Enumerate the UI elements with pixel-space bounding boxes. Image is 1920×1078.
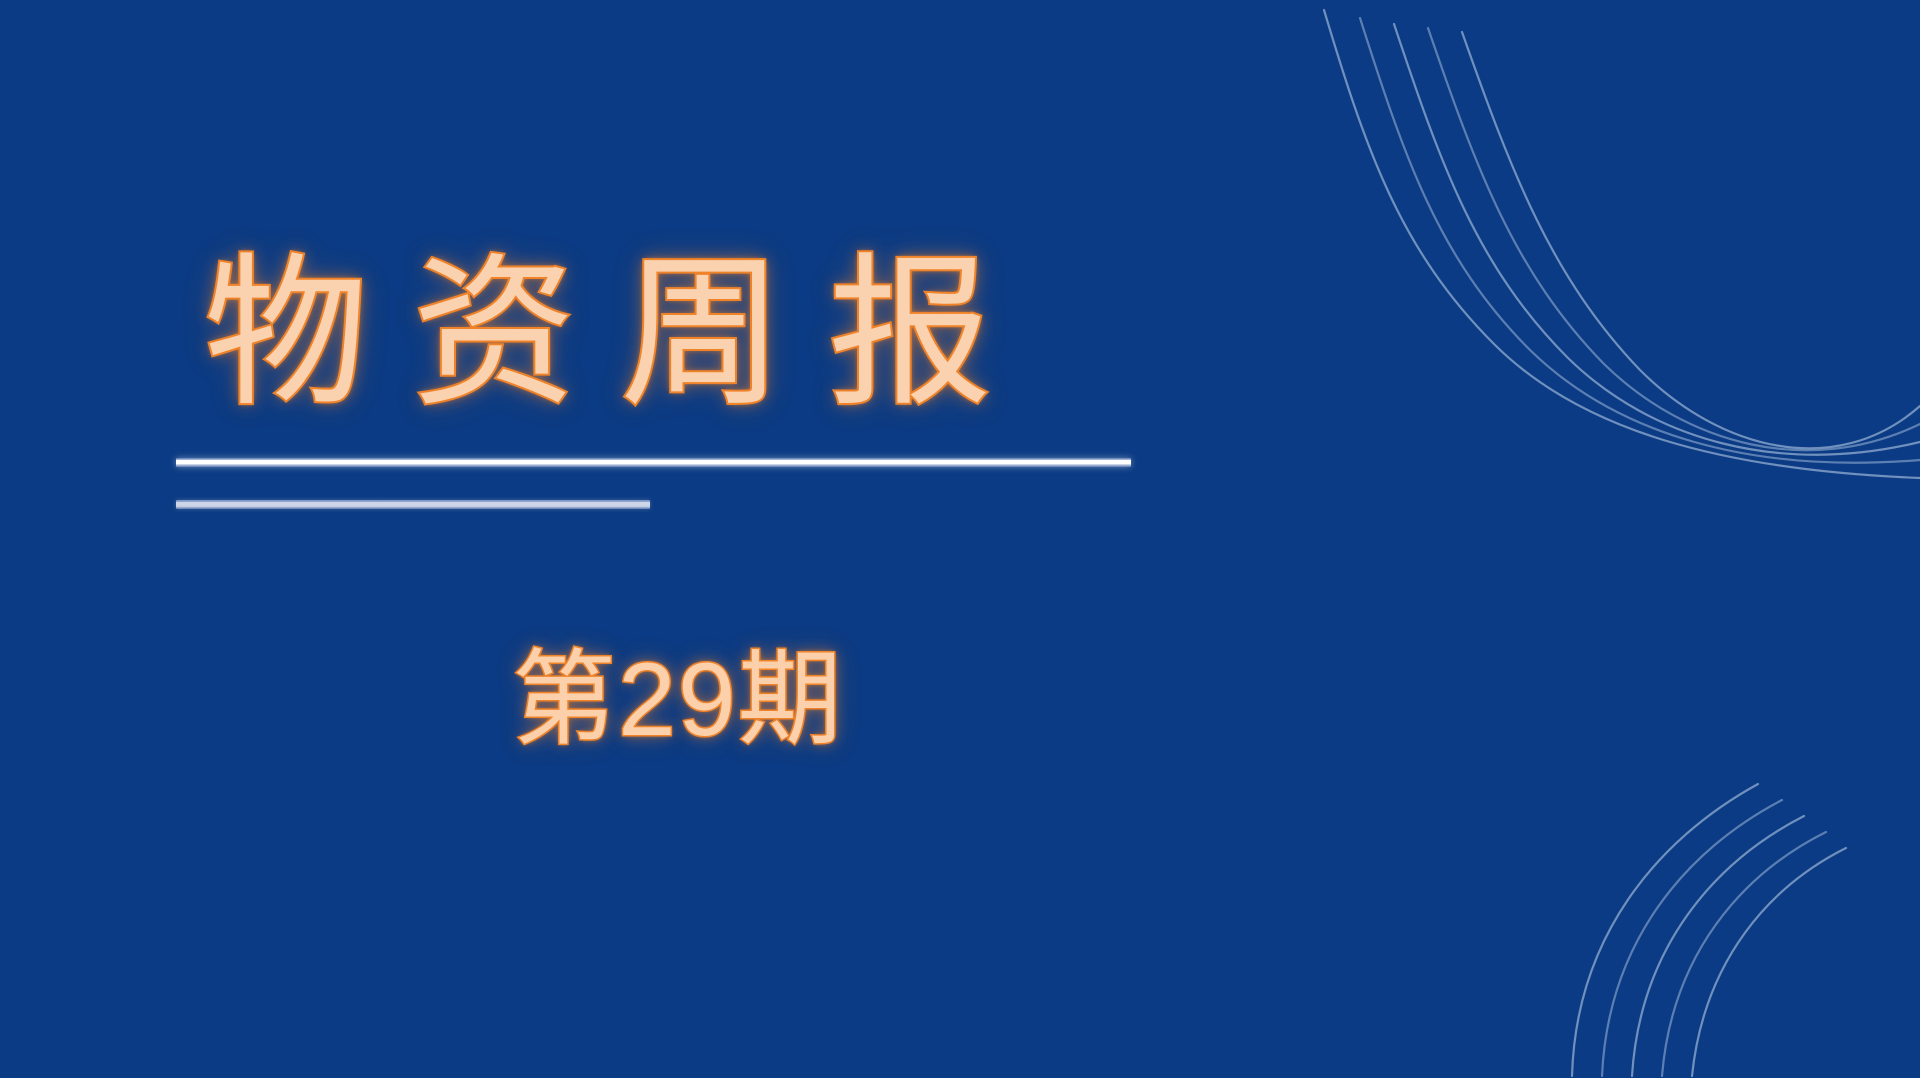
bottom-right-arcs-decoration	[1280, 598, 1920, 1078]
title-rules	[176, 458, 1276, 509]
title-underline-primary	[176, 458, 1131, 467]
headline-block: 物资周报	[176, 252, 1276, 509]
slide-canvas: 物资周报 第29期	[0, 0, 1920, 1078]
page-title: 物资周报	[176, 252, 1276, 416]
top-right-curves-decoration	[1280, 0, 1920, 500]
issue-subtitle: 第29期	[512, 648, 844, 752]
title-underline-secondary	[176, 500, 650, 509]
